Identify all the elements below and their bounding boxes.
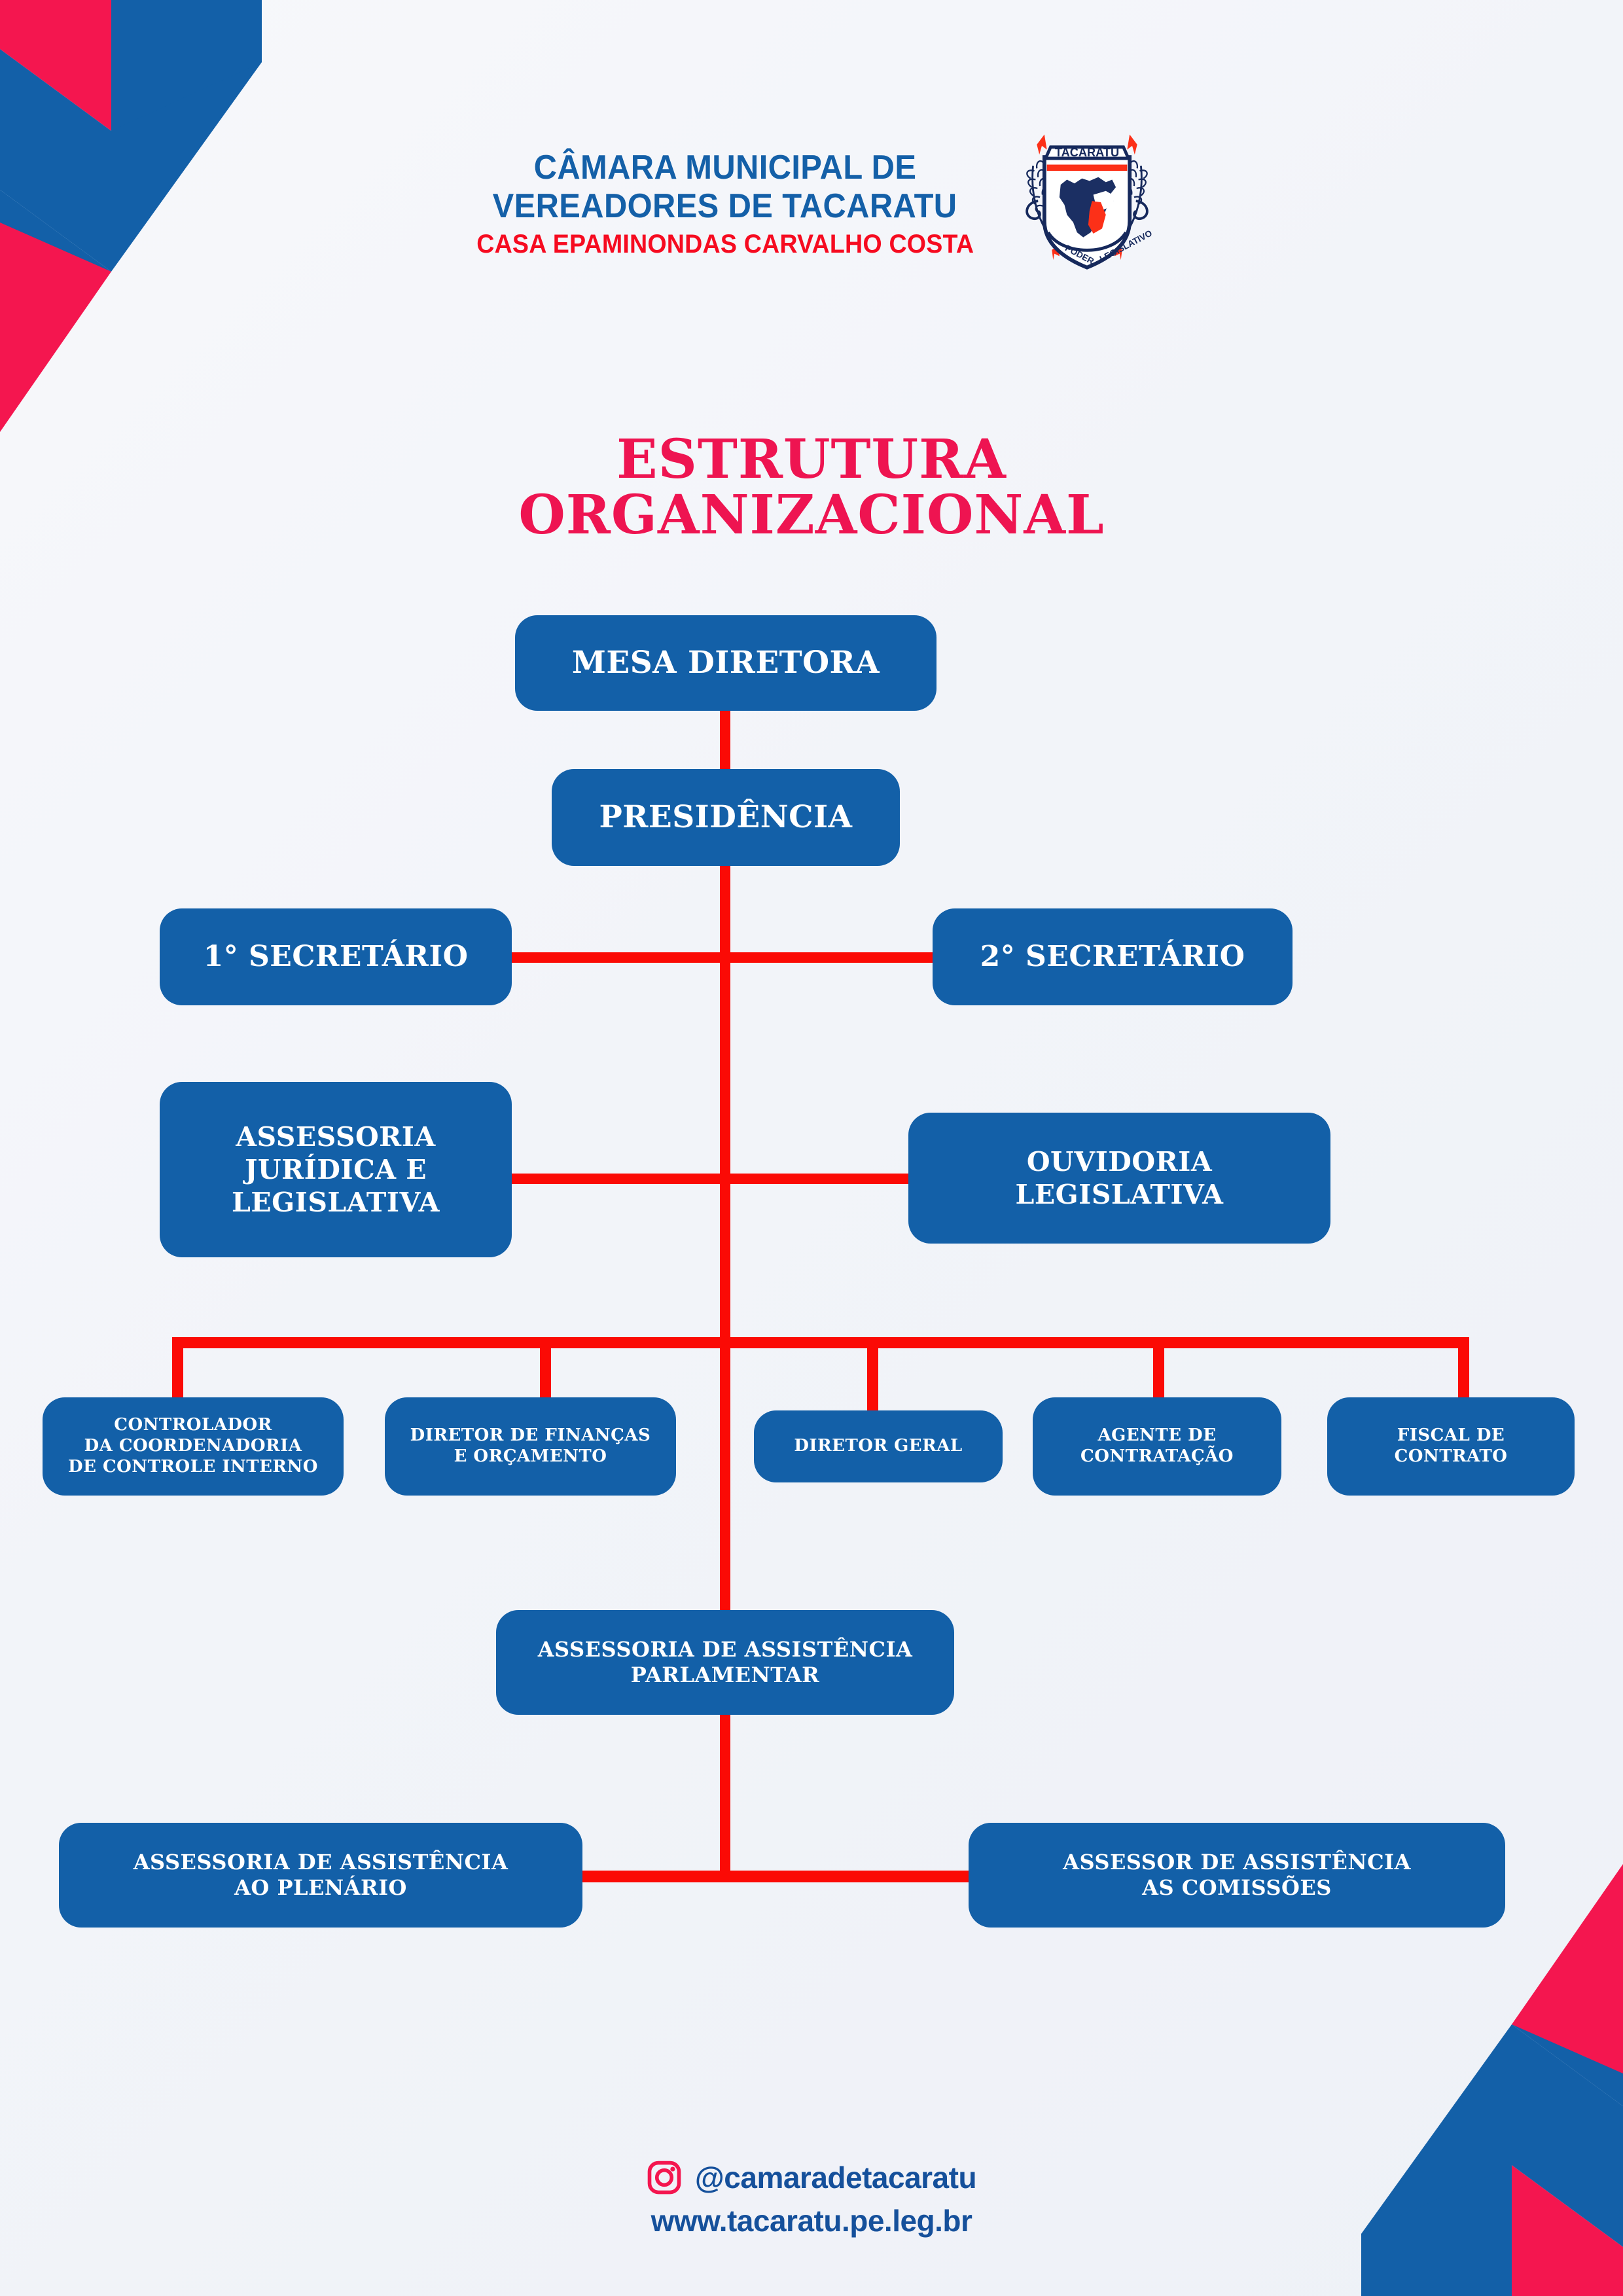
org-node-label: FISCAL DECONTRATO bbox=[1336, 1426, 1565, 1467]
connector-drop-controlador bbox=[172, 1337, 183, 1401]
org-node-label: CONTROLADORDA COORDENADORIADE CONTROLE I… bbox=[52, 1415, 334, 1477]
org-node-controlador[interactable]: CONTROLADORDA COORDENADORIADE CONTROLE I… bbox=[43, 1397, 344, 1496]
org-node-label: ASSESSORIA DE ASSISTÊNCIAPARLAMENTAR bbox=[505, 1637, 945, 1688]
org-node-label: DIRETOR DE FINANÇASE ORÇAMENTO bbox=[394, 1426, 667, 1467]
connector-drop-agente bbox=[1153, 1337, 1164, 1401]
org-node-fiscal[interactable]: FISCAL DECONTRATO bbox=[1327, 1397, 1575, 1496]
org-node-presidencia[interactable]: PRESIDÊNCIA bbox=[552, 769, 900, 866]
connector-branch-juridica bbox=[504, 1174, 923, 1184]
poster-footer: @camaradetacaratu www.tacaratu.pe.leg.br bbox=[0, 2160, 1623, 2238]
org-node-label: DIRETOR GERAL bbox=[763, 1436, 993, 1457]
instagram-handle[interactable]: @camaradetacaratu bbox=[695, 2160, 976, 2195]
org-chart: MESA DIRETORAPRESIDÊNCIA1° SECRETÁRIO2° … bbox=[0, 0, 1623, 2296]
org-node-label: 1° SECRETÁRIO bbox=[169, 939, 503, 975]
connector-branch-bottom-row bbox=[563, 1871, 982, 1882]
org-node-agente[interactable]: AGENTE DECONTRATAÇÃO bbox=[1033, 1397, 1281, 1496]
org-node-sec2[interactable]: 2° SECRETÁRIO bbox=[933, 908, 1293, 1005]
instagram-row[interactable]: @camaradetacaratu bbox=[647, 2160, 976, 2195]
org-node-sec1[interactable]: 1° SECRETÁRIO bbox=[160, 908, 512, 1005]
org-node-plenario[interactable]: ASSESSORIA DE ASSISTÊNCIAAO PLENÁRIO bbox=[59, 1823, 582, 1928]
org-node-juridica[interactable]: ASSESSORIAJURÍDICA ELEGISLATIVA bbox=[160, 1082, 512, 1257]
org-node-label: PRESIDÊNCIA bbox=[561, 798, 891, 836]
website-url[interactable]: www.tacaratu.pe.leg.br bbox=[651, 2203, 972, 2238]
connector-bus-directors bbox=[172, 1337, 1469, 1348]
org-node-label: 2° SECRETÁRIO bbox=[942, 939, 1283, 975]
connector-drop-dirgeral bbox=[867, 1337, 878, 1414]
org-node-ouvidoria[interactable]: OUVIDORIALEGISLATIVA bbox=[908, 1113, 1330, 1244]
org-node-comissoes[interactable]: ASSESSOR DE ASSISTÊNCIAAS COMISSÕES bbox=[969, 1823, 1505, 1928]
org-node-label: OUVIDORIALEGISLATIVA bbox=[918, 1145, 1321, 1211]
connector-drop-dirfin bbox=[540, 1337, 551, 1401]
org-node-mesa[interactable]: MESA DIRETORA bbox=[515, 615, 936, 711]
instagram-icon[interactable] bbox=[647, 2160, 682, 2195]
org-node-label: AGENTE DECONTRATAÇÃO bbox=[1042, 1426, 1272, 1467]
org-node-dirfin[interactable]: DIRETOR DE FINANÇASE ORÇAMENTO bbox=[385, 1397, 676, 1496]
org-node-dirgeral[interactable]: DIRETOR GERAL bbox=[754, 1410, 1003, 1482]
org-node-label: MESA DIRETORA bbox=[524, 644, 927, 681]
org-node-label: ASSESSORIAJURÍDICA ELEGISLATIVA bbox=[169, 1121, 503, 1219]
connector-drop-fiscal bbox=[1458, 1337, 1469, 1401]
connector-trunk-main-spine bbox=[720, 866, 730, 1877]
org-node-label: ASSESSORIA DE ASSISTÊNCIAAO PLENÁRIO bbox=[68, 1850, 573, 1901]
org-node-parlamentar[interactable]: ASSESSORIA DE ASSISTÊNCIAPARLAMENTAR bbox=[496, 1610, 954, 1715]
poster-page: CÂMARA MUNICIPAL DE VEREADORES DE TACARA… bbox=[0, 0, 1623, 2296]
connector-trunk-mesa-presidencia bbox=[720, 710, 730, 776]
org-node-label: ASSESSOR DE ASSISTÊNCIAAS COMISSÕES bbox=[978, 1850, 1496, 1901]
connector-branch-secretarios bbox=[504, 952, 942, 963]
